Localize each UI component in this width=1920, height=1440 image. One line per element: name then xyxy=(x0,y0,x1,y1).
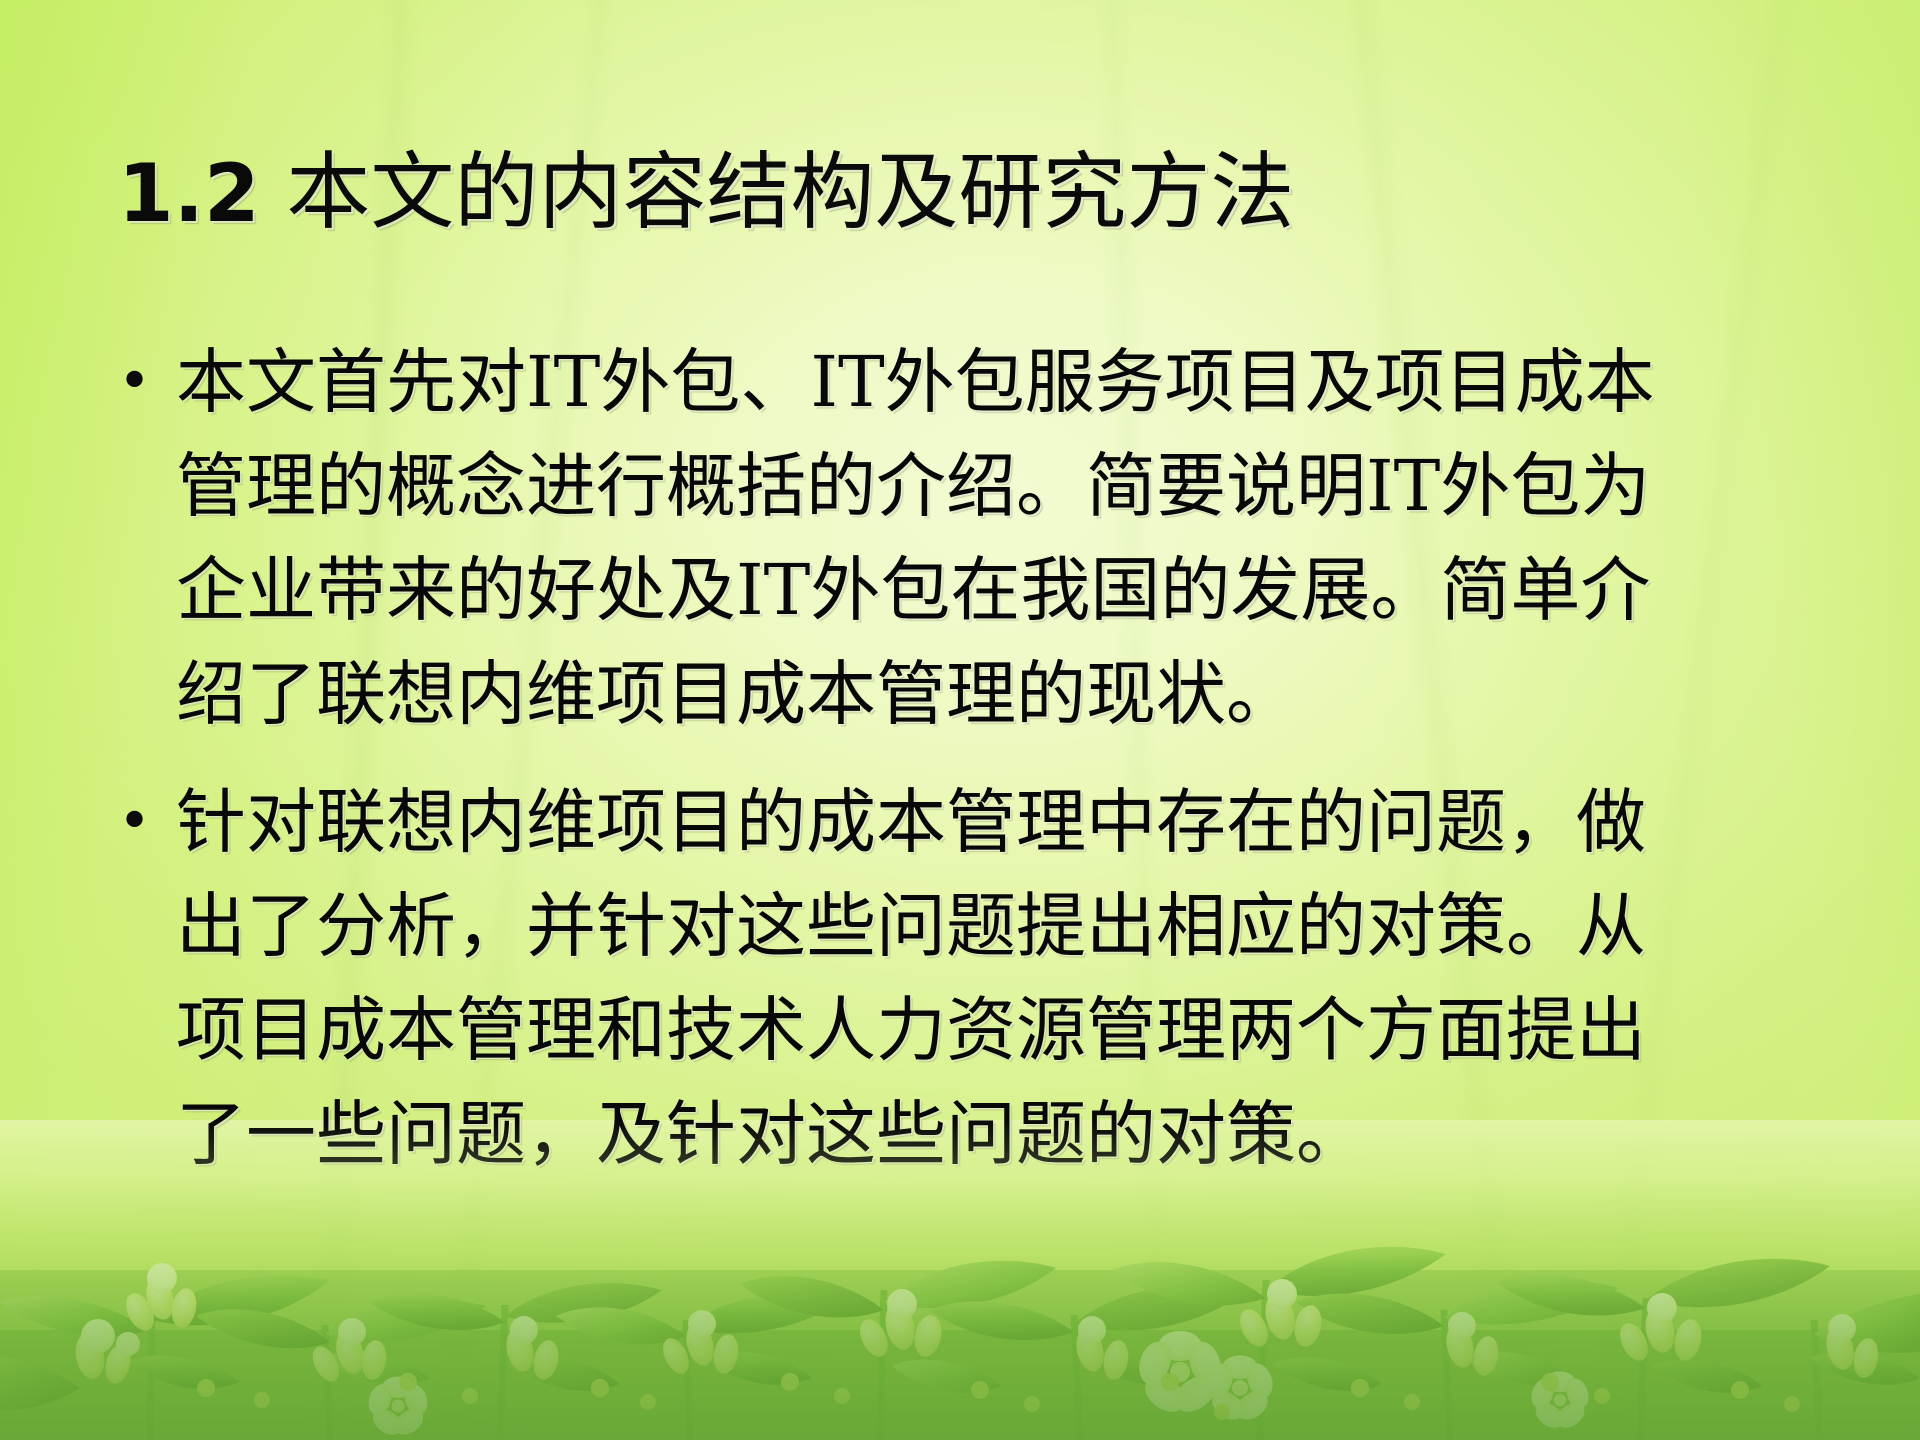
bullet-line: 项目成本管理和技术人力资源管理两个方面提出 xyxy=(176,978,1900,1082)
bullet-text: 针对联想内维项目的成本管理中存在的问题，做 出了分析，并针对这些问题提出相应的对… xyxy=(176,770,1900,1186)
bullet-line: 本文首先对IT外包、IT外包服务项目及项目成本 xyxy=(176,330,1900,434)
bullet-item: • 本文首先对IT外包、IT外包服务项目及项目成本 管理的概念进行概括的介绍。简… xyxy=(110,330,1900,746)
bullet-line: 了一些问题，及针对这些问题的对策。 xyxy=(176,1082,1900,1186)
presentation-slide: 1.2 本文的内容结构及研究方法 • 本文首先对IT外包、IT外包服务项目及项目… xyxy=(0,0,1920,1440)
slide-content: 1.2 本文的内容结构及研究方法 • 本文首先对IT外包、IT外包服务项目及项目… xyxy=(0,0,1920,1440)
bullet-line: 绍了联想内维项目成本管理的现状。 xyxy=(176,642,1900,746)
bullet-marker-icon: • xyxy=(110,330,176,434)
bullet-line: 管理的概念进行概括的介绍。简要说明IT外包为 xyxy=(176,434,1900,538)
slide-bullet-list: • 本文首先对IT外包、IT外包服务项目及项目成本 管理的概念进行概括的介绍。简… xyxy=(110,330,1900,1210)
bullet-marker-icon: • xyxy=(110,770,176,874)
slide-title-spacer xyxy=(260,143,287,241)
bullet-line: 出了分析，并针对这些问题提出相应的对策。从 xyxy=(176,874,1900,978)
bullet-line: 针对联想内维项目的成本管理中存在的问题，做 xyxy=(176,770,1900,874)
slide-title-heading: 本文的内容结构及研究方法 xyxy=(286,143,1294,241)
bullet-text: 本文首先对IT外包、IT外包服务项目及项目成本 管理的概念进行概括的介绍。简要说… xyxy=(176,330,1900,746)
slide-title-number: 1.2 xyxy=(118,147,260,240)
bullet-line: 企业带来的好处及IT外包在我国的发展。简单介 xyxy=(176,538,1900,642)
slide-title: 1.2 本文的内容结构及研究方法 xyxy=(118,150,1818,234)
bullet-item: • 针对联想内维项目的成本管理中存在的问题，做 出了分析，并针对这些问题提出相应… xyxy=(110,770,1900,1186)
